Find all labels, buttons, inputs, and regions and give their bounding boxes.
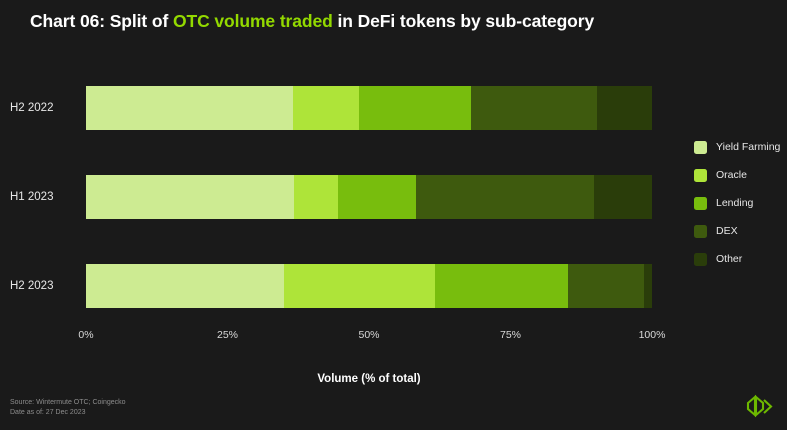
bar-segment[interactable]: [284, 264, 435, 308]
bar-segment[interactable]: [338, 175, 416, 219]
legend-item[interactable]: Oracle: [694, 161, 784, 189]
bar-segment[interactable]: [597, 86, 652, 130]
legend-swatch: [694, 253, 707, 266]
chart-canvas: Chart 06: Split of OTC volume traded in …: [0, 0, 787, 430]
bar-segment[interactable]: [416, 175, 594, 219]
bar-segment[interactable]: [294, 175, 338, 219]
legend-label: Other: [716, 253, 742, 265]
bar-segment[interactable]: [86, 175, 294, 219]
plot-area: [86, 80, 652, 320]
category-label: H2 2023: [10, 280, 80, 292]
x-axis-tick-label: 75%: [500, 329, 521, 341]
footer-source: Source: Wintermute OTC; Coingecko: [10, 398, 126, 408]
bar-segment[interactable]: [86, 86, 293, 130]
bar-row: [86, 175, 652, 219]
bar-segment[interactable]: [86, 264, 284, 308]
legend-item[interactable]: DEX: [694, 217, 784, 245]
legend-label: Yield Farming: [716, 141, 780, 153]
legend-label: Oracle: [716, 169, 747, 181]
wintermute-logo: [745, 394, 775, 420]
page-title: Chart 06: Split of OTC volume traded in …: [30, 11, 594, 32]
category-label: H2 2022: [10, 102, 80, 114]
bar-segment[interactable]: [471, 86, 596, 130]
legend-swatch: [694, 141, 707, 154]
bar-row: [86, 86, 652, 130]
x-axis-tick-label: 25%: [217, 329, 238, 341]
legend-item[interactable]: Other: [694, 245, 784, 273]
bar-segment[interactable]: [435, 264, 568, 308]
x-axis-tick-label: 50%: [358, 329, 379, 341]
bar-segment[interactable]: [359, 86, 471, 130]
legend-label: Lending: [716, 197, 753, 209]
bar-segment[interactable]: [293, 86, 359, 130]
legend: Yield FarmingOracleLendingDEXOther: [694, 133, 784, 273]
x-axis-tick-label: 100%: [639, 329, 666, 341]
legend-item[interactable]: Yield Farming: [694, 133, 784, 161]
footer-date: Date as of: 27 Dec 2023: [10, 408, 126, 418]
legend-swatch: [694, 197, 707, 210]
bar-segment[interactable]: [568, 264, 644, 308]
title-prefix: Chart 06: Split of: [30, 11, 173, 31]
bar-segment[interactable]: [594, 175, 652, 219]
legend-swatch: [694, 169, 707, 182]
title-accent: OTC volume traded: [173, 11, 333, 31]
legend-item[interactable]: Lending: [694, 189, 784, 217]
category-label: H1 2023: [10, 191, 80, 203]
title-suffix: in DeFi tokens by sub-category: [333, 11, 594, 31]
footer: Source: Wintermute OTC; Coingecko Date a…: [10, 398, 126, 418]
bar-row: [86, 264, 652, 308]
legend-label: DEX: [716, 225, 738, 237]
x-axis-tick-label: 0%: [78, 329, 93, 341]
bar-segment[interactable]: [644, 264, 652, 308]
legend-swatch: [694, 225, 707, 238]
x-axis-label: Volume (% of total): [86, 373, 652, 385]
